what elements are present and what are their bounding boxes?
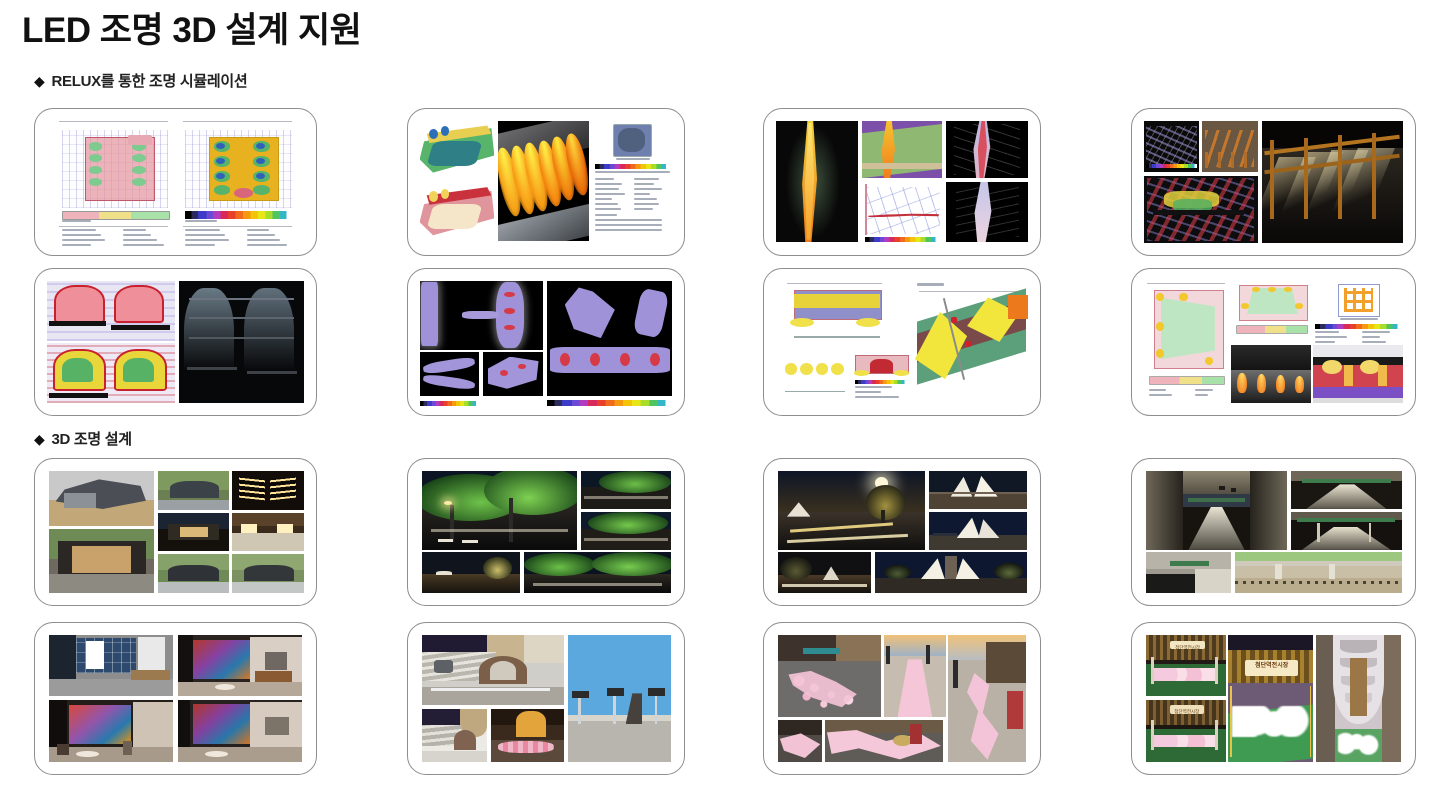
relux-false-color-card[interactable] bbox=[34, 268, 317, 416]
section-header-relux: ◆ RELUX를 통한 조명 시뮬레이션 bbox=[34, 70, 247, 91]
relux-road-lighting-card[interactable] bbox=[763, 108, 1041, 256]
design-monument-card[interactable] bbox=[763, 458, 1041, 606]
relux-canopy-structure-card[interactable] bbox=[1131, 108, 1416, 256]
section-label-3d-design: 3D 조명 설계 bbox=[51, 428, 131, 449]
design-stadium-card[interactable] bbox=[407, 622, 685, 775]
design-exhibition-card[interactable]: 첨단역전시장 첨단역전시장 첨단역전시장 bbox=[1131, 622, 1416, 775]
design-underpass-card[interactable] bbox=[1131, 458, 1416, 606]
exhibition-signage-main: 첨단역전시장 bbox=[1245, 659, 1298, 677]
page-title: LED 조명 3D 설계 지원 bbox=[22, 12, 361, 51]
exhibition-signage-label: 첨단역전시장 bbox=[1170, 640, 1205, 650]
design-flower-path-card[interactable] bbox=[763, 622, 1041, 775]
section-label-relux: RELUX를 통한 조명 시뮬레이션 bbox=[51, 70, 247, 91]
section-header-3d-design: ◆ 3D 조명 설계 bbox=[34, 428, 132, 449]
relux-tunnel-distribution-card[interactable] bbox=[763, 268, 1041, 416]
design-pavilion-card[interactable] bbox=[34, 458, 317, 606]
design-media-wall-card[interactable] bbox=[34, 622, 317, 775]
relux-3d-luminance-card[interactable] bbox=[407, 108, 685, 256]
design-street-tree-card[interactable] bbox=[407, 458, 685, 606]
diamond-bullet-icon: ◆ bbox=[34, 74, 44, 88]
relux-pathway-illuminance-card[interactable] bbox=[407, 268, 685, 416]
diamond-bullet-icon: ◆ bbox=[34, 432, 44, 446]
slide-root: LED 조명 3D 설계 지원 ◆ RELUX를 통한 조명 시뮬레이션 ◆ 3… bbox=[0, 0, 1441, 785]
exhibition-signage-label-2: 첨단역전시장 bbox=[1170, 704, 1203, 714]
relux-interior-layout-card[interactable] bbox=[1131, 268, 1416, 416]
relux-isolux-report-card[interactable] bbox=[34, 108, 317, 256]
